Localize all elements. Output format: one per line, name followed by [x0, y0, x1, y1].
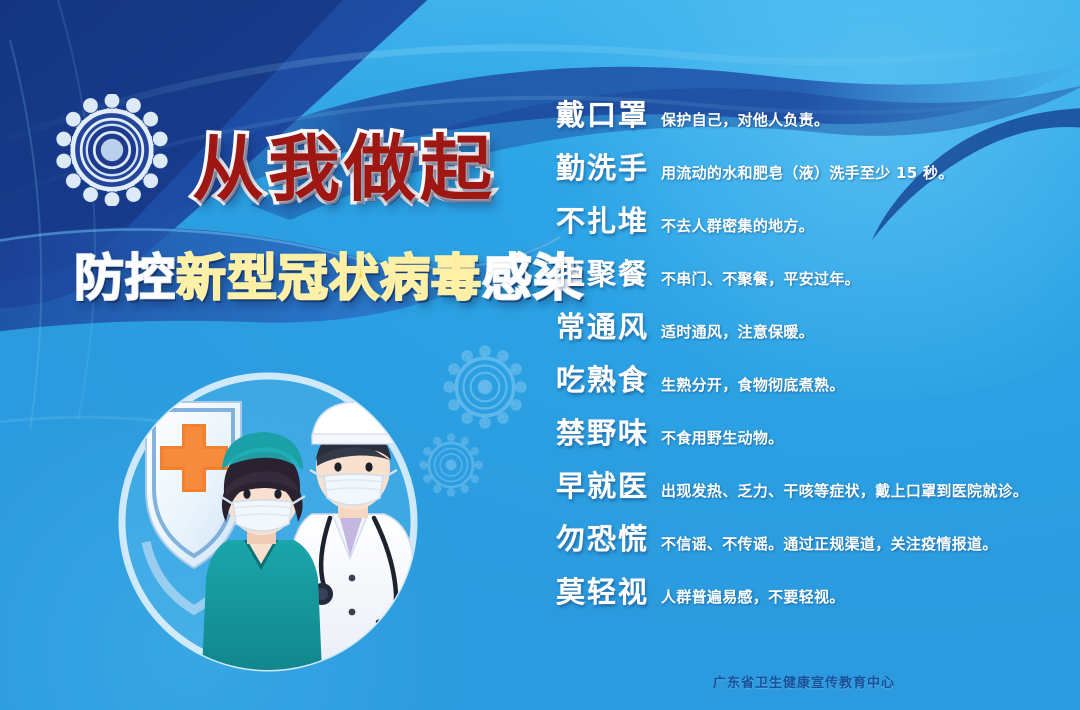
tip-title: 禁野味 [556, 410, 649, 452]
page-subtitle: 防控新型冠状病毒感染 [74, 253, 584, 303]
tip-description: 保护自己，对他人负责。 [661, 109, 829, 130]
tip-title: 不扎堆 [556, 198, 649, 240]
tip-title: 吃熟食 [556, 357, 649, 399]
list-item: 早就医 出现发热、乏力、干咳等症状，戴上口罩到医院就诊。 [556, 463, 1076, 516]
subtitle-part-2: 新型冠状病毒 [176, 249, 482, 307]
prevention-tips-list: 戴口罩 保护自己，对他人负责。 勤洗手 用流动的水和肥皂（液）洗手至少 15 秒… [556, 92, 1076, 622]
list-item: 莫轻视 人群普遍易感，不要轻视。 [556, 569, 1076, 622]
list-item: 禁野味 不食用野生动物。 [556, 410, 1076, 463]
tip-description: 适时通风，注意保暖。 [661, 321, 814, 342]
page-title: 从我做起 [192, 133, 496, 205]
tip-title: 勤洗手 [556, 145, 649, 187]
tip-title: 常通风 [556, 304, 649, 346]
tip-description: 不食用野生动物。 [661, 427, 783, 448]
subtitle-part-1: 防控 [74, 249, 176, 307]
page-title-text: 从我做起 [192, 127, 496, 211]
tip-title: 勿恐慌 [556, 516, 649, 558]
tip-description: 用流动的水和肥皂（液）洗手至少 15 秒。 [661, 162, 954, 183]
tip-title: 莫轻视 [556, 569, 649, 611]
tip-description: 人群普遍易感，不要轻视。 [661, 586, 845, 607]
footer-attribution: 广东省卫生健康宣传教育中心 [713, 672, 895, 691]
coronavirus-icon [442, 344, 528, 430]
tip-description: 生熟分开，食物彻底煮熟。 [661, 374, 845, 395]
tip-description: 不串门、不聚餐，平安过年。 [661, 268, 860, 289]
tip-title: 早就医 [556, 463, 649, 505]
health-poster: 从我做起 防控新型冠状病毒感染 戴口罩 保护自己，对他人负责。 勤洗手 用流动的… [0, 0, 1080, 710]
tip-description: 出现发热、乏力、干咳等症状，戴上口罩到医院就诊。 [661, 480, 1028, 501]
list-item: 不扎堆 不去人群密集的地方。 [556, 198, 1076, 251]
tip-title: 拒聚餐 [556, 251, 649, 293]
tip-title: 戴口罩 [556, 92, 649, 134]
list-item: 勿恐慌 不信谣、不传谣。通过正规渠道，关注疫情报道。 [556, 516, 1076, 569]
medical-workers-illustration [116, 372, 436, 672]
list-item: 戴口罩 保护自己，对他人负责。 [556, 92, 1076, 145]
list-item: 吃熟食 生熟分开，食物彻底煮熟。 [556, 357, 1076, 410]
headline-block: 从我做起 防控新型冠状病毒感染 [0, 0, 560, 340]
list-item: 拒聚餐 不串门、不聚餐，平安过年。 [556, 251, 1076, 304]
tip-description: 不信谣、不传谣。通过正规渠道，关注疫情报道。 [661, 533, 998, 554]
list-item: 勤洗手 用流动的水和肥皂（液）洗手至少 15 秒。 [556, 145, 1076, 198]
tip-description: 不去人群密集的地方。 [661, 215, 814, 236]
list-item: 常通风 适时通风，注意保暖。 [556, 304, 1076, 357]
